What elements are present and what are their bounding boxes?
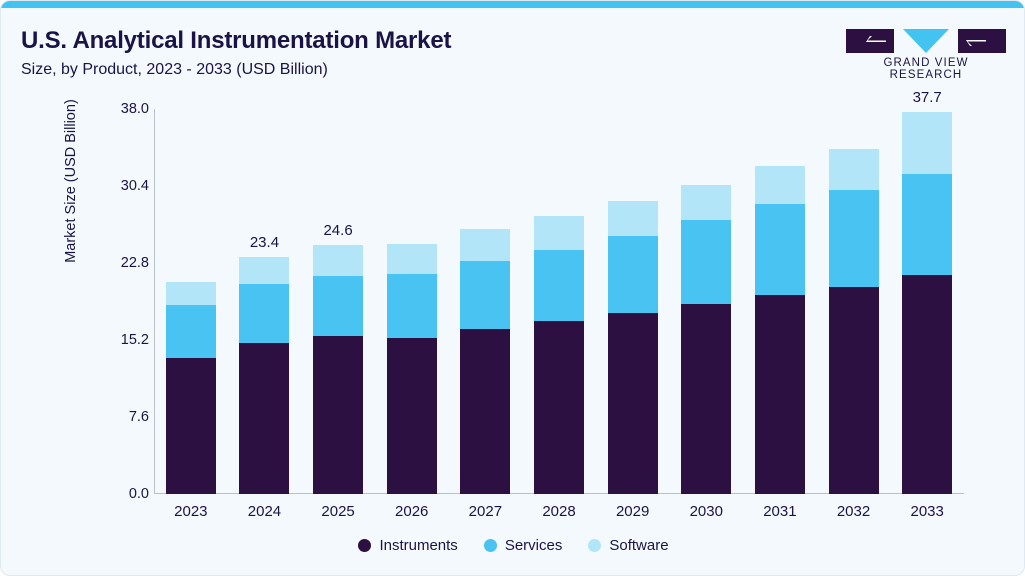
legend-swatch-icon <box>588 539 601 552</box>
y-axis-tick-label: 15.2 <box>89 332 149 348</box>
y-axis-tick-label: 0.0 <box>89 486 149 502</box>
brand-logo: GRAND VIEW RESEARCH <box>846 27 1006 75</box>
legend-item[interactable]: Software <box>588 537 668 554</box>
legend-label: Services <box>505 537 563 554</box>
legend-label: Instruments <box>379 537 457 554</box>
legend-item[interactable]: Services <box>484 537 563 554</box>
legend-swatch-icon <box>484 539 497 552</box>
chart-legend: InstrumentsServicesSoftware <box>1 537 1025 554</box>
legend-label: Software <box>609 537 668 554</box>
y-axis-tick-label: 7.6 <box>89 409 149 425</box>
x-axis-ticks: 2023202420252026202720282029203020312032… <box>154 91 964 521</box>
legend-item[interactable]: Instruments <box>358 537 457 554</box>
legend-swatch-icon <box>358 539 371 552</box>
accent-top-bar <box>1 1 1025 8</box>
chart-card: U.S. Analytical Instrumentation Market S… <box>0 0 1025 576</box>
page-title: U.S. Analytical Instrumentation Market <box>21 27 451 55</box>
chart-plot-area: 0.07.615.222.830.438.0 Market Size (USD … <box>1 91 1025 521</box>
logo-mark-icon <box>846 27 1006 55</box>
x-axis-tick-label: 2033 <box>877 503 977 520</box>
y-axis-label: Market Size (USD Billion) <box>63 71 79 291</box>
logo-text: GRAND VIEW RESEARCH <box>846 57 1006 81</box>
y-axis-tick-label: 22.8 <box>89 255 149 271</box>
y-axis-tick-label: 30.4 <box>89 178 149 194</box>
y-axis-tick-label: 38.0 <box>89 101 149 117</box>
y-axis-ticks: 0.07.615.222.830.438.0 <box>89 91 149 521</box>
